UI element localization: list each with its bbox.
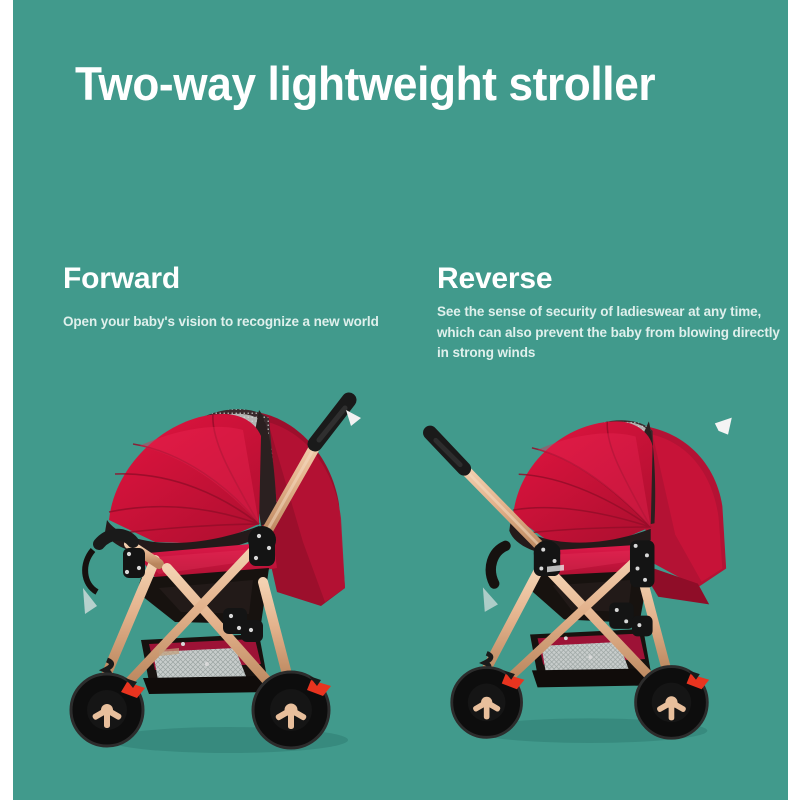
poster-canvas: Two-way lightweight stroller Forward Ope… xyxy=(0,0,800,800)
column-subtitle-forward: Open your baby's vision to recognize a n… xyxy=(63,312,423,333)
product-image-stroller-forward xyxy=(63,392,393,762)
page-title: Two-way lightweight stroller xyxy=(75,55,733,113)
teal-background-panel: Two-way lightweight stroller Forward Ope… xyxy=(13,0,788,800)
product-image-stroller-reverse xyxy=(415,392,745,762)
column-heading-forward: Forward xyxy=(63,262,180,296)
column-subtitle-reverse: See the sense of security of ladieswear … xyxy=(437,302,785,364)
column-heading-reverse: Reverse xyxy=(437,262,552,296)
